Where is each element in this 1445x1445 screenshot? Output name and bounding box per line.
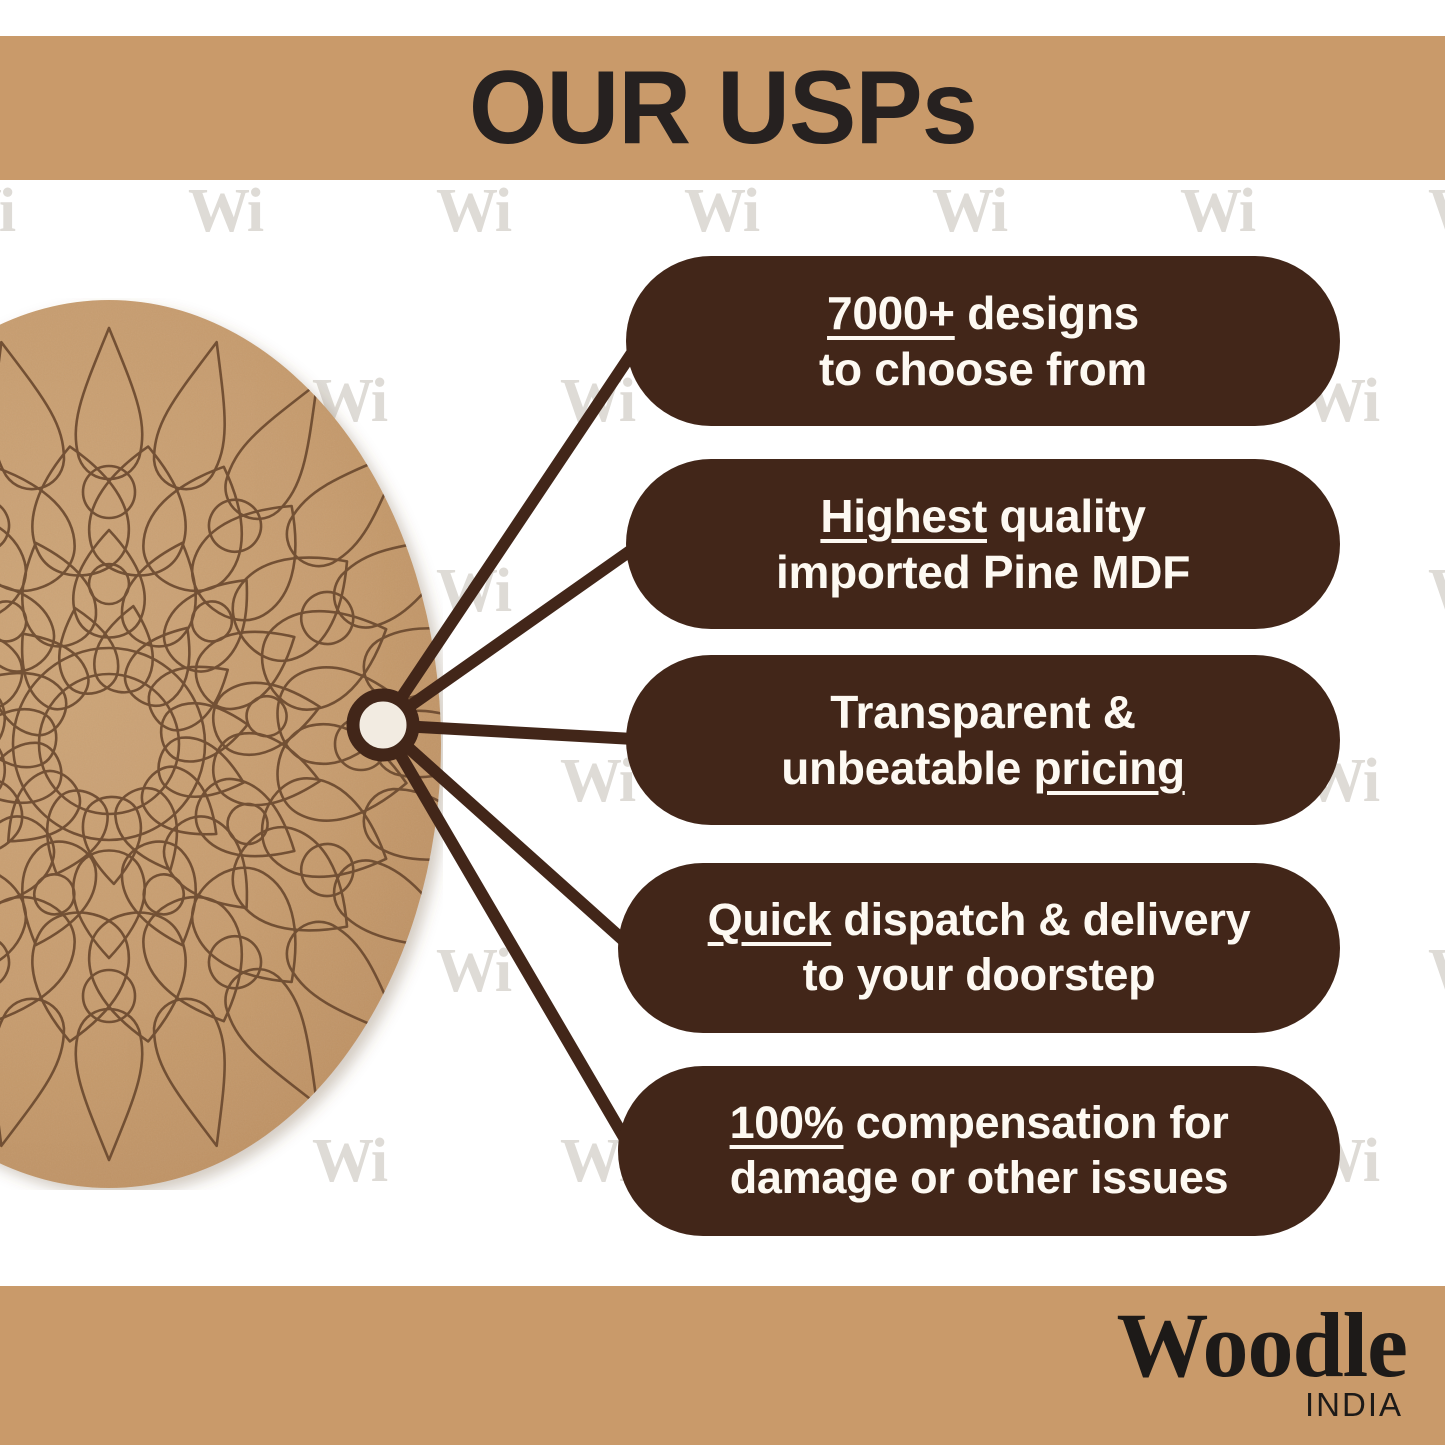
- usp-line-2: imported Pine MDF: [776, 544, 1190, 600]
- watermark-wi: Wi: [932, 180, 1006, 242]
- usp-line-1: Quick dispatch & delivery: [708, 893, 1251, 948]
- usp-highlight-1: Highest: [820, 490, 987, 542]
- usp-line-1: Highest quality: [776, 488, 1190, 544]
- usp-highlight-4: 100%: [730, 1097, 844, 1148]
- usp-card-material-quality[interactable]: Highest quality imported Pine MDF: [626, 459, 1340, 629]
- usp-rest-1: quality: [987, 490, 1146, 542]
- footer-band: Woodle INDIA: [0, 1286, 1445, 1445]
- watermark-wi: Wi: [560, 750, 634, 812]
- watermark-wi: Wi: [1428, 940, 1445, 1002]
- usp-line-1: 100% compensation for: [730, 1096, 1229, 1151]
- watermark-wi: Wi: [436, 560, 510, 622]
- usp-card-dispatch-delivery[interactable]: Quick dispatch & delivery to your doorst…: [618, 863, 1340, 1033]
- usp-rest-3: dispatch & delivery: [831, 894, 1250, 945]
- usp-line-1: 7000+ designs: [819, 285, 1147, 341]
- watermark-wi: Wi: [560, 370, 634, 432]
- usp-line-2: unbeatable pricing: [781, 740, 1185, 796]
- usp-highlight-3: Quick: [708, 894, 832, 945]
- watermark-wi: Wi: [1428, 560, 1445, 622]
- watermark-wi: Wi: [684, 180, 758, 242]
- usp-line-2: to choose from: [819, 341, 1147, 397]
- usp-rest-0: designs: [955, 287, 1139, 339]
- usp-line-2: to your doorstep: [708, 948, 1251, 1003]
- product-image-mandala-mdf-base: [0, 298, 443, 1190]
- usp-card-designs-count[interactable]: 7000+ designs to choose from: [626, 256, 1340, 426]
- usp-card-pricing[interactable]: Transparent & unbeatable pricing: [626, 655, 1340, 825]
- watermark-wi: Wi: [1428, 180, 1445, 242]
- watermark-wi: Wi: [436, 940, 510, 1002]
- watermark-wi: Wi: [436, 180, 510, 242]
- usp-highlight-0: 7000+: [827, 287, 955, 339]
- usp-highlight-2: pricing: [1034, 742, 1185, 794]
- watermark-wi: Wi: [188, 180, 262, 242]
- watermark-wi: Wi: [0, 180, 14, 242]
- header-band: OUR USPs: [0, 36, 1445, 180]
- usp-card-compensation[interactable]: 100% compensation for damage or other is…: [618, 1066, 1340, 1236]
- brand-logo: Woodle INDIA: [1117, 1298, 1407, 1421]
- usp-rest-2: unbeatable: [781, 742, 1033, 794]
- usp-line-2: damage or other issues: [730, 1151, 1229, 1206]
- page-title: OUR USPs: [469, 56, 977, 160]
- usp-rest-4: compensation for: [843, 1097, 1228, 1148]
- brand-name: Woodle: [1117, 1298, 1407, 1394]
- infographic-canvas: WiWiWiWiWiWiWiWiWiWiWiWiWiWiWiWiWiWiWiWi…: [0, 0, 1445, 1445]
- usp-line-1: Transparent &: [781, 684, 1185, 740]
- watermark-wi: Wi: [1180, 180, 1254, 242]
